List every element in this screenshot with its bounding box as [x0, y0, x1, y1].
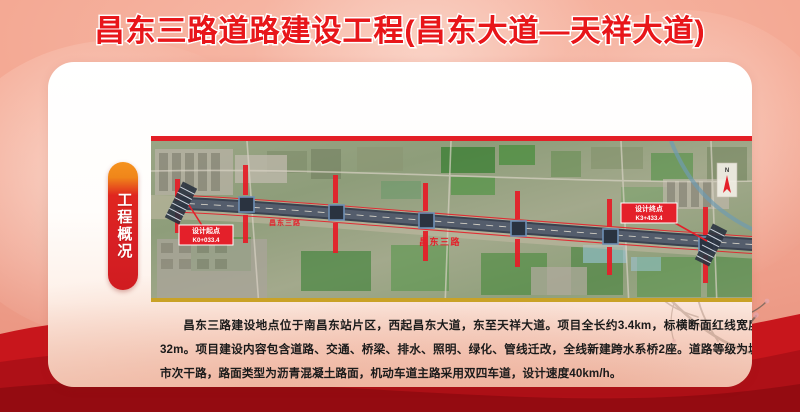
svg-text:K0+033.4: K0+033.4 — [192, 237, 220, 244]
page-title: 昌东三路道路建设工程(昌东大道—天祥大道) — [0, 6, 800, 50]
content-panel: 工程概况 — [48, 62, 752, 387]
map-road-label-west: 昌东三路 — [269, 218, 301, 227]
overview-paragraph-2: 项目建安费约1.88亿元，征地、拆迁费用约1.98亿元(征拆费用需属地政府进一步… — [160, 385, 752, 387]
overview-paragraph-1: 昌东三路建设地点位于南昌东站片区，西起昌东大道，东至天祥大道。项目全长约3.4k… — [160, 314, 752, 385]
section-badge: 工程概况 — [108, 162, 138, 290]
poster-root: 昌东三路道路建设工程(昌东大道—天祥大道) 昌东三路道路建设工程(昌东大道—天祥… — [0, 0, 800, 412]
svg-text:K3+433.4: K3+433.4 — [635, 215, 663, 222]
svg-text:设计起点: 设计起点 — [192, 226, 220, 235]
alignment-map[interactable]: 昌东三路 昌东三路 设计起点 K0+033.4 设计终点 K3+433.4 — [151, 136, 752, 302]
map-road-label: 昌东三路 — [419, 236, 461, 247]
alignment-map-canvas: 昌东三路 昌东三路 设计起点 K0+033.4 设计终点 K3+433.4 — [151, 141, 752, 302]
svg-text:设计终点: 设计终点 — [635, 204, 663, 213]
section-badge-label: 工程概况 — [115, 192, 132, 260]
map-north-arrow: N — [717, 163, 737, 197]
svg-text:N: N — [725, 168, 729, 174]
overview-text: 昌东三路建设地点位于南昌东站片区，西起昌东大道，东至天祥大道。项目全长约3.4k… — [160, 314, 752, 387]
